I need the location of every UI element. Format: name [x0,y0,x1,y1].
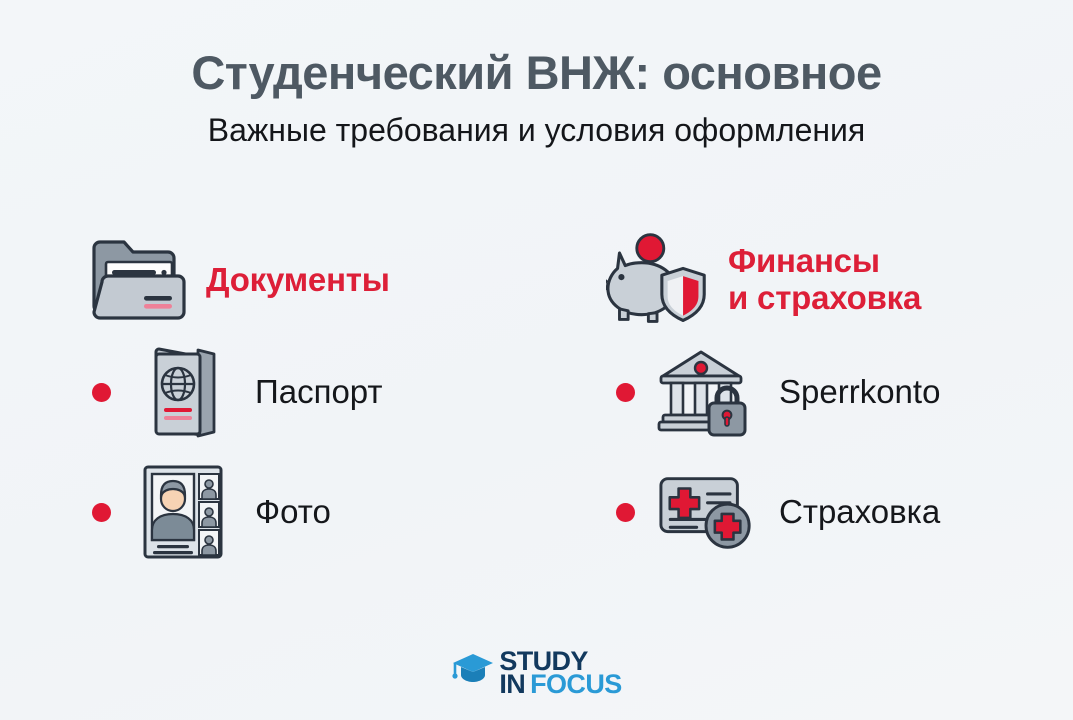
list-item-label: Фото [255,493,331,531]
list-item-passport: Паспорт [84,332,536,452]
category-label-finance: Финансы и страховка [728,243,921,317]
list-item-photo: Фото [84,452,536,572]
page-title: Студенческий ВНЖ: основное [0,48,1073,99]
bullet-dot [92,383,111,402]
category-header-finance: Финансы и страховка [576,228,1072,332]
bullet-dot [92,503,111,522]
list-item-label: Паспорт [255,373,383,411]
list-item-label: Страховка [779,493,940,531]
logo-line-focus: FOCUS [530,673,622,696]
category-label-documents: Документы [206,262,390,299]
list-item-insurance: Страховка [576,452,1072,572]
header: Студенческий ВНЖ: основное Важные требов… [0,48,1073,148]
photo-id-icon [133,461,233,563]
bullet-dot [616,503,635,522]
list-item-label: Sperrkonto [779,373,940,411]
passport-icon [133,342,233,442]
category-label-finance-line2: и страховка [728,279,921,316]
bullet-dot [616,383,635,402]
logo-line-in: IN [499,673,525,696]
page-subtitle: Важные требования и условия оформления [0,113,1073,148]
piggy-bank-shield-icon [606,230,710,330]
category-header-documents: Документы [84,228,536,332]
bank-lock-icon [657,346,757,438]
column-finance: Финансы и страховка [536,228,1072,572]
graduation-cap-icon [451,652,495,691]
infographic-canvas: Студенческий ВНЖ: основное Важные требов… [0,0,1073,720]
brand-logo: STUDY IN FOCUS [0,650,1073,696]
category-label-finance-line1: Финансы [728,242,880,279]
content-columns: Документы [0,228,1073,572]
folder-icon [84,234,188,326]
list-item-sperrkonto: Sperrkonto [576,332,1072,452]
column-documents: Документы [0,228,536,572]
insurance-card-icon [657,470,757,554]
